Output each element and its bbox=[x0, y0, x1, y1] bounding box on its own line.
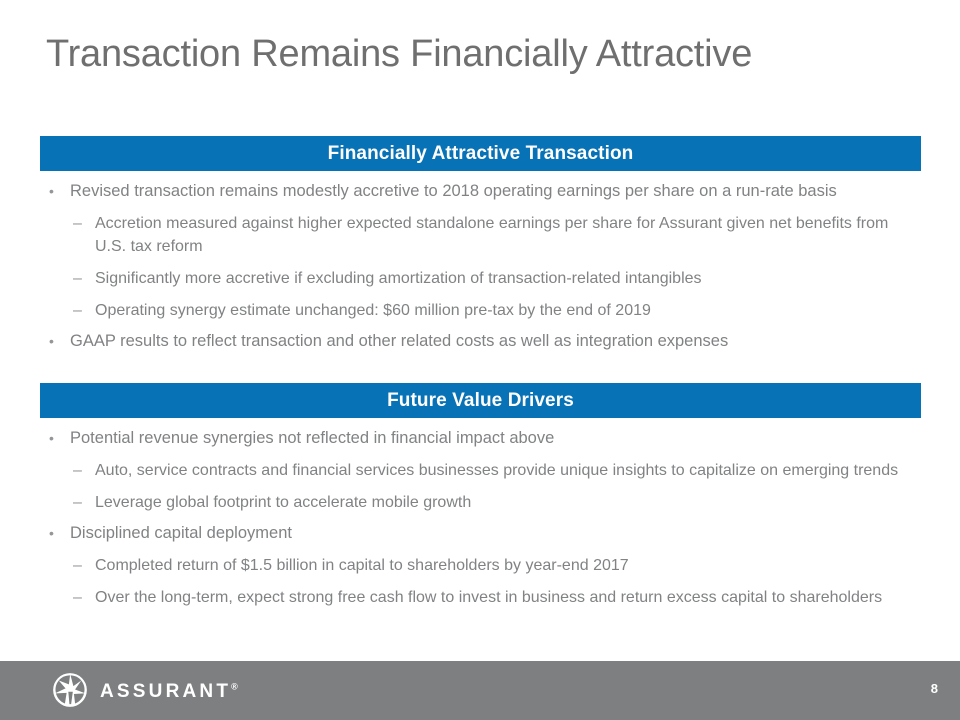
registered-trademark-icon: ® bbox=[231, 681, 238, 691]
bullet-text: Significantly more accretive if excludin… bbox=[95, 267, 921, 290]
bullet-text: Operating synergy estimate unchanged: $6… bbox=[95, 299, 921, 322]
bullet-dash-icon: – bbox=[73, 267, 82, 290]
bullet-item: –Completed return of $1.5 billion in cap… bbox=[40, 554, 921, 577]
bullet-dash-icon: – bbox=[73, 212, 82, 235]
bullet-item: –Operating synergy estimate unchanged: $… bbox=[40, 299, 921, 322]
bullet-dot-icon: • bbox=[49, 180, 54, 203]
bullet-item: –Auto, service contracts and financial s… bbox=[40, 459, 921, 482]
bullet-dot-icon: • bbox=[49, 427, 54, 450]
bullet-item: –Accretion measured against higher expec… bbox=[40, 212, 921, 258]
bullet-item: –Over the long-term, expect strong free … bbox=[40, 586, 921, 609]
bullet-item: –Significantly more accretive if excludi… bbox=[40, 267, 921, 290]
slide-footer: ASSURANT® 8 bbox=[0, 661, 960, 720]
section-heading-bar: Future Value Drivers bbox=[40, 383, 921, 418]
bullet-text: Leverage global footprint to accelerate … bbox=[95, 491, 921, 514]
bullet-text: Completed return of $1.5 billion in capi… bbox=[95, 554, 921, 577]
assurant-aperture-logo-icon bbox=[52, 672, 88, 708]
bullet-text: Revised transaction remains modestly acc… bbox=[70, 180, 921, 203]
bullet-item: –Leverage global footprint to accelerate… bbox=[40, 491, 921, 514]
page-number: 8 bbox=[931, 681, 938, 696]
brand-logo: ASSURANT® bbox=[52, 671, 238, 709]
bullet-text: GAAP results to reflect transaction and … bbox=[70, 330, 921, 353]
bullet-text: Disciplined capital deployment bbox=[70, 522, 921, 545]
bullet-dash-icon: – bbox=[73, 459, 82, 482]
bullet-dot-icon: • bbox=[49, 522, 54, 545]
bullet-dash-icon: – bbox=[73, 299, 82, 322]
bullet-item: •GAAP results to reflect transaction and… bbox=[40, 330, 921, 353]
brand-wordmark: ASSURANT® bbox=[100, 682, 238, 701]
bullet-item: •Potential revenue synergies not reflect… bbox=[40, 427, 921, 450]
bullet-text: Auto, service contracts and financial se… bbox=[95, 459, 921, 482]
bullet-dash-icon: – bbox=[73, 491, 82, 514]
bullet-dash-icon: – bbox=[73, 586, 82, 609]
brand-name-text: ASSURANT bbox=[100, 681, 231, 702]
section-body: •Revised transaction remains modestly ac… bbox=[40, 171, 921, 353]
section-financially-attractive-transaction: Financially Attractive Transaction •Revi… bbox=[40, 136, 921, 353]
bullet-text: Over the long-term, expect strong free c… bbox=[95, 586, 921, 609]
section-heading-bar: Financially Attractive Transaction bbox=[40, 136, 921, 171]
bullet-text: Accretion measured against higher expect… bbox=[95, 212, 921, 258]
bullet-item: •Revised transaction remains modestly ac… bbox=[40, 180, 921, 203]
bullet-dash-icon: – bbox=[73, 554, 82, 577]
bullet-item: •Disciplined capital deployment bbox=[40, 522, 921, 545]
section-body: •Potential revenue synergies not reflect… bbox=[40, 418, 921, 609]
page-title: Transaction Remains Financially Attracti… bbox=[46, 30, 916, 78]
section-future-value-drivers: Future Value Drivers •Potential revenue … bbox=[40, 383, 921, 609]
bullet-text: Potential revenue synergies not reflecte… bbox=[70, 427, 921, 450]
bullet-dot-icon: • bbox=[49, 330, 54, 353]
slide: Transaction Remains Financially Attracti… bbox=[0, 0, 960, 720]
